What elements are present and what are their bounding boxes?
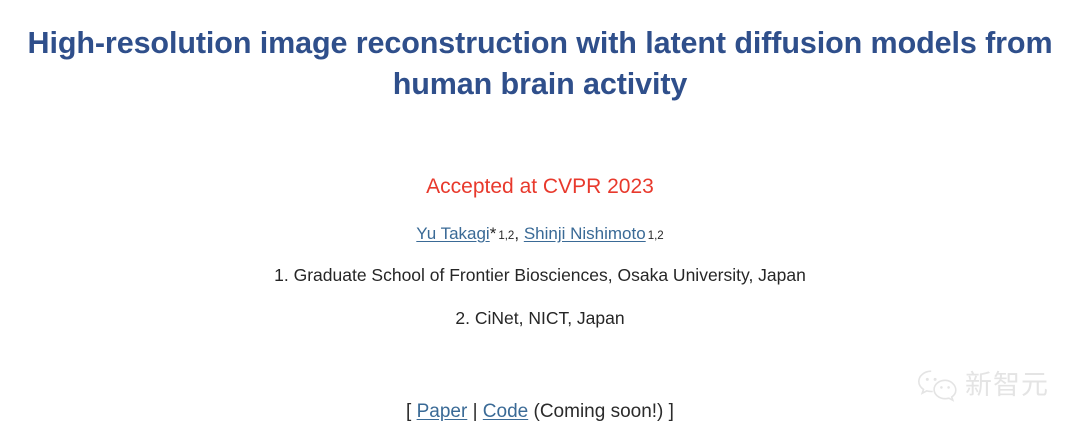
author-link-yu-takagi[interactable]: Yu Takagi [416,224,489,243]
code-link[interactable]: Code [483,401,528,422]
open-bracket: [ [406,401,411,422]
acceptance-notice: Accepted at CVPR 2023 [0,174,1080,200]
author-affiliation-mark-2: 1,2 [646,230,664,242]
author-separator: , [514,224,519,243]
affiliation-line-1: 1. Graduate School of Frontier Bioscienc… [0,263,1080,287]
link-separator: | [473,401,478,422]
author-link-shinji-nishimoto[interactable]: Shinji Nishimoto [524,224,646,243]
page-root: High-resolution image reconstruction wit… [0,0,1080,433]
close-bracket: ] [669,401,674,422]
author-affiliation-mark-1: 1,2 [496,230,514,242]
page-title: High-resolution image reconstruction wit… [0,20,1080,105]
paper-link[interactable]: Paper [417,401,468,422]
resource-links: [ Paper | Code (Coming soon!) ] [0,399,1080,425]
coming-soon-note: (Coming soon!) [534,401,664,422]
watermark-text: 新智元 [965,371,1049,401]
affiliation-line-2: 2. CiNet, NICT, Japan [0,306,1080,330]
author-list: Yu Takagi*1,2, Shinji Nishimoto1,2 [0,222,1080,248]
